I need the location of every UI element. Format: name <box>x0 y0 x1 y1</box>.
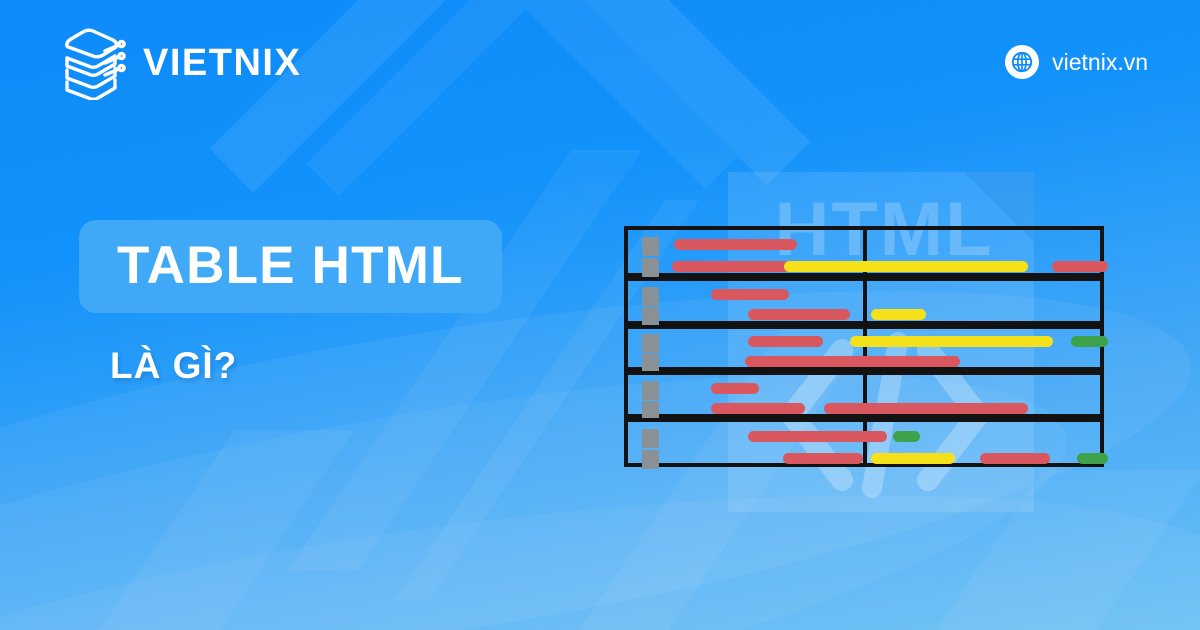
table-row <box>624 325 1104 371</box>
content-bar-green <box>893 431 920 442</box>
site-url-block[interactable]: vietnix.vn <box>1005 45 1148 79</box>
vietnix-stacked-layers-logo-icon <box>57 26 129 100</box>
content-bar-red <box>748 309 850 320</box>
table-column-divider <box>863 422 867 463</box>
content-bar-red <box>674 239 797 250</box>
site-url-text: vietnix.vn <box>1052 49 1148 76</box>
content-bar-yellow <box>871 309 926 320</box>
content-bar-yellow <box>850 336 1053 347</box>
table-row <box>624 226 1104 277</box>
page-title: TABLE HTML <box>117 239 464 292</box>
globe-icon <box>1005 45 1039 79</box>
content-bar-yellow <box>784 261 1028 272</box>
table-row <box>624 418 1104 467</box>
table-column-divider <box>863 281 867 321</box>
content-bar-red <box>748 431 887 442</box>
row-marker-dash <box>642 334 659 353</box>
content-bar-green <box>1071 336 1108 347</box>
row-marker-dash <box>642 287 659 306</box>
content-bar-red <box>711 403 805 414</box>
row-marker-dash <box>642 237 659 256</box>
content-bar-red <box>783 453 863 464</box>
table-row <box>624 371 1104 418</box>
row-marker-dash <box>642 258 659 277</box>
row-marker-dash <box>642 450 659 469</box>
content-bar-red <box>745 356 960 367</box>
content-bar-red <box>824 403 1028 414</box>
content-bar-red <box>1052 261 1108 272</box>
html-table-illustration <box>624 226 1104 467</box>
content-bar-red <box>711 383 759 394</box>
page-subtitle: LÀ GÌ? <box>110 345 237 387</box>
content-bar-yellow <box>871 453 955 464</box>
row-marker-dash <box>642 429 659 448</box>
row-marker-dash <box>642 307 659 326</box>
content-bar-red <box>711 289 789 300</box>
light-streak-1 <box>288 150 641 570</box>
banner-canvas: HTML VIETNIX <box>0 0 1200 630</box>
content-bar-red <box>672 261 793 272</box>
light-streak-4 <box>86 430 354 630</box>
brand-logo[interactable]: VIETNIX <box>57 26 301 100</box>
table-row <box>624 277 1104 325</box>
content-bar-red <box>980 453 1050 464</box>
page-title-badge: TABLE HTML <box>79 220 502 313</box>
content-bar-red <box>748 336 823 347</box>
row-marker-dash <box>642 381 659 400</box>
brand-name: VIETNIX <box>143 42 301 85</box>
content-bar-green <box>1077 453 1108 464</box>
